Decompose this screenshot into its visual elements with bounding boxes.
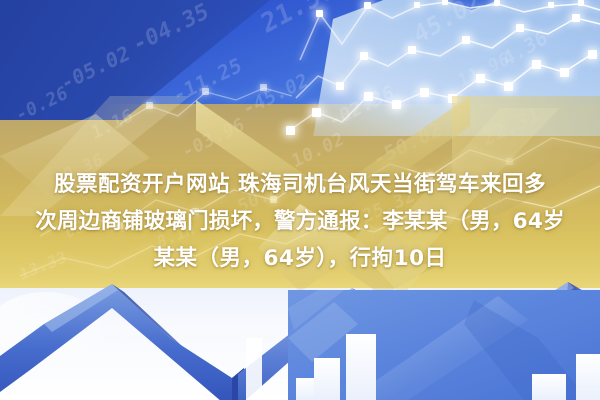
- headline-line-2: 次周边商铺玻璃门损坏，警方通报：李某某（男，64岁: [0, 203, 600, 240]
- white-bar-chart: [288, 290, 600, 400]
- bottom-right-chart-panel: [288, 290, 600, 400]
- headline-line-1: 股票配资开户网站 珠海司机台风天当街驾车来回多: [0, 166, 600, 203]
- news-banner: 21.50 45.02 4.36 -04.35 -05.02 -11.25 -4…: [0, 0, 600, 400]
- headline-text: 股票配资开户网站 珠海司机台风天当街驾车来回多 次周边商铺玻璃门损坏，警方通报：…: [0, 166, 600, 277]
- headline-line-3: 某某（男，64岁），行拘10日: [0, 240, 600, 277]
